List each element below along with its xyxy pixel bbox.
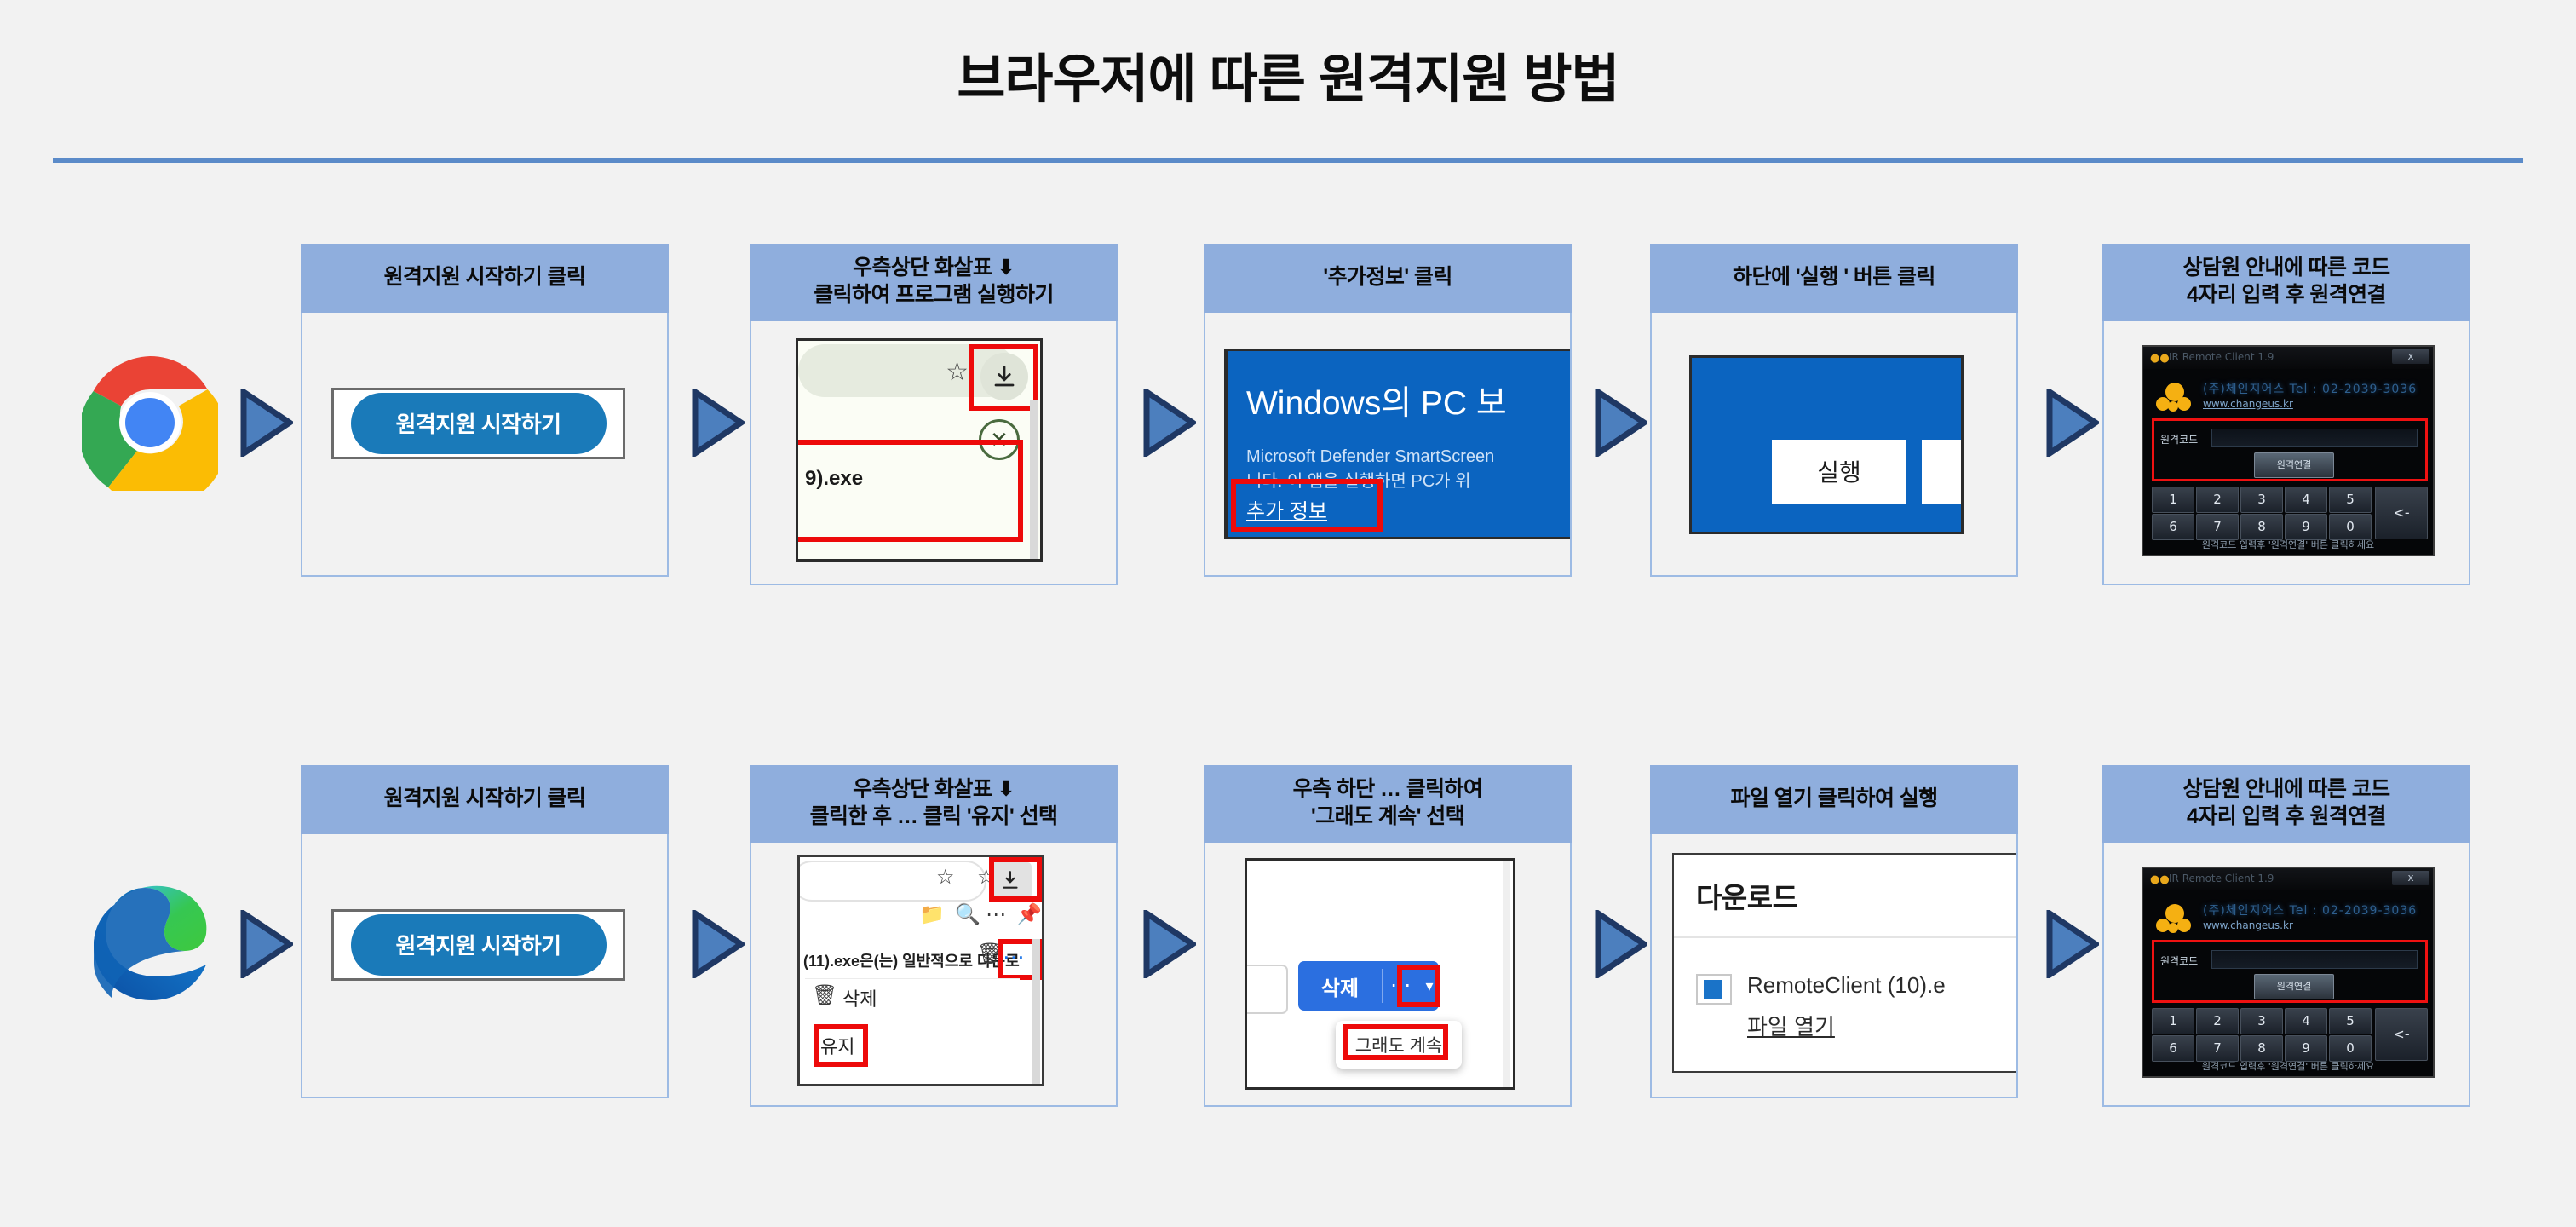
flow-arrow bbox=[240, 389, 293, 457]
download-icon-highlight bbox=[989, 857, 1042, 902]
flow-arrow bbox=[1143, 389, 1196, 457]
step-card: 우측상단 화살표 ⬇ 클릭하여 프로그램 실행하기 ☆ ✕ 9).exe bbox=[750, 244, 1118, 585]
run-dialog-screenshot: 실행 bbox=[1689, 355, 1964, 534]
page-title: 브라우저에 따른 원격지원 방법 bbox=[0, 36, 2576, 112]
flow-arrow bbox=[2046, 910, 2099, 978]
remote-client-footer: 원격코드 입력후 '원격연결' 버튼 클릭하세요 bbox=[2143, 538, 2433, 551]
close-button[interactable]: x bbox=[2392, 349, 2429, 364]
connect-button[interactable]: 원격연결 bbox=[2254, 452, 2334, 478]
keypad-key-8[interactable]: 8 bbox=[2240, 514, 2283, 540]
keypad-key-3[interactable]: 3 bbox=[2240, 487, 2283, 513]
flow-arrow bbox=[1595, 910, 1647, 978]
step-body: 실행 bbox=[1650, 313, 2018, 577]
open-file-link[interactable]: 파일 열기 bbox=[1747, 1010, 1835, 1041]
flow-arrow bbox=[1143, 910, 1196, 978]
keypad-key-2[interactable]: 2 bbox=[2196, 1008, 2239, 1034]
step-card: 파일 열기 클릭하여 실행 다운로드 RemoteClient (10).e 파… bbox=[1650, 765, 2018, 1098]
company-url[interactable]: www.changeus.kr bbox=[2203, 398, 2293, 410]
step-header: '추가정보' 클릭 bbox=[1204, 244, 1572, 313]
start-remote-support-screenshot: 원격지원 시작하기 bbox=[331, 388, 625, 459]
flow-arrow bbox=[692, 910, 745, 978]
keypad-key-6[interactable]: 6 bbox=[2152, 1035, 2194, 1062]
scrollbar[interactable] bbox=[1030, 400, 1038, 562]
changeus-logo-icon bbox=[2155, 902, 2196, 936]
company-info: (주)체인지어스 Tel : 02-2039-3036 bbox=[2203, 902, 2417, 919]
divider bbox=[1674, 936, 2018, 938]
flow-arrow bbox=[1595, 389, 1647, 457]
close-button[interactable]: x bbox=[2392, 871, 2429, 885]
keep-anyway-highlight bbox=[1343, 1024, 1448, 1060]
step-body: 원격지원 시작하기 bbox=[301, 313, 669, 577]
code-input[interactable] bbox=[2211, 950, 2418, 969]
remote-client-window-title: IR Remote Client 1.9 bbox=[2169, 351, 2274, 363]
keypad-key-4[interactable]: 4 bbox=[2285, 1008, 2327, 1034]
step-header: 상담원 안내에 따른 코드 4자리 입력 후 원격연결 bbox=[2102, 765, 2470, 843]
pin-icon[interactable]: 📌 bbox=[1016, 905, 1042, 925]
flow-arrow bbox=[2046, 389, 2099, 457]
step-card: 상담원 안내에 따른 코드 4자리 입력 후 원격연결 ●● IR Remote… bbox=[2102, 244, 2470, 585]
download-icon-highlight bbox=[969, 344, 1038, 411]
start-remote-support-button[interactable]: 원격지원 시작하기 bbox=[351, 393, 607, 454]
omnibox bbox=[797, 861, 986, 902]
more-menu-highlight bbox=[1397, 965, 1440, 1007]
edge-download-flyout-screenshot: ☆ ☆ 📁 🔍 ⋯ 📌 (11).exe은(는) 일반적으로 다운로 🗑 ⋯ 🗑… bbox=[797, 855, 1044, 1086]
keypad-key-4[interactable]: 4 bbox=[2285, 487, 2327, 513]
step-header: 파일 열기 클릭하여 실행 bbox=[1650, 765, 2018, 834]
step-body: Windows의 PC 보 Microsoft Defender SmartSc… bbox=[1204, 313, 1572, 577]
step-body: ●● IR Remote Client 1.9 x (주)체인지어스 Tel :… bbox=[2102, 321, 2470, 585]
star-icon[interactable]: ☆ bbox=[936, 867, 955, 888]
remote-client-screenshot: ●● IR Remote Client 1.9 x (주)체인지어스 Tel :… bbox=[2142, 345, 2435, 556]
adjacent-field bbox=[1245, 965, 1288, 1014]
smartscreen-title: Windows의 PC 보 bbox=[1246, 377, 1507, 424]
keypad-backspace[interactable]: <- bbox=[2375, 487, 2428, 539]
keypad-key-9[interactable]: 9 bbox=[2285, 1035, 2327, 1062]
keypad-key-2[interactable]: 2 bbox=[2196, 487, 2239, 513]
flow-arrow bbox=[692, 389, 745, 457]
step-header: 하단에 '실행 ' 버튼 클릭 bbox=[1650, 244, 2018, 313]
secondary-button[interactable] bbox=[1922, 440, 1964, 504]
remote-client-screenshot: ●● IR Remote Client 1.9 x (주)체인지어스 Tel :… bbox=[2142, 867, 2435, 1078]
edge-logo bbox=[82, 876, 218, 1012]
numeric-keypad: 1 2 3 4 5 6 7 8 9 0 <- bbox=[2152, 487, 2428, 539]
folder-icon[interactable]: 📁 bbox=[919, 905, 945, 925]
step-card: 우측 하단 … 클릭하여 '그래도 계속' 선택 삭제 ⋯ ▾ 그래도 계속 bbox=[1204, 765, 1572, 1107]
step-card: 우측상단 화살표 ⬇ 클릭한 후 … 클릭 '유지' 선택 ☆ ☆ 📁 🔍 ⋯ … bbox=[750, 765, 1118, 1107]
code-label: 원격코드 bbox=[2160, 953, 2198, 968]
step-header: 원격지원 시작하기 클릭 bbox=[301, 765, 669, 834]
keypad-key-1[interactable]: 1 bbox=[2152, 1008, 2194, 1034]
step-body: 삭제 ⋯ ▾ 그래도 계속 bbox=[1204, 843, 1572, 1107]
smartscreen-dialog-screenshot: Windows의 PC 보 Microsoft Defender SmartSc… bbox=[1224, 349, 1572, 539]
downloads-panel-screenshot: 다운로드 RemoteClient (10).e 파일 열기 bbox=[1672, 853, 2018, 1073]
scrollbar[interactable] bbox=[1032, 939, 1040, 1084]
start-remote-support-button[interactable]: 원격지원 시작하기 bbox=[351, 914, 607, 976]
step-card: 원격지원 시작하기 클릭 원격지원 시작하기 bbox=[301, 765, 669, 1098]
step-card: 상담원 안내에 따른 코드 4자리 입력 후 원격연결 ●● IR Remote… bbox=[2102, 765, 2470, 1107]
step-header: 우측상단 화살표 ⬇ 클릭하여 프로그램 실행하기 bbox=[750, 244, 1118, 321]
menu-item-delete[interactable]: 삭제 bbox=[842, 984, 877, 1011]
company-url[interactable]: www.changeus.kr bbox=[2203, 919, 2293, 931]
edge-row: 원격지원 시작하기 클릭 원격지원 시작하기 우측상단 화살표 ⬇ 클릭한 후 … bbox=[0, 734, 2576, 1212]
delete-button-label: 삭제 bbox=[1298, 971, 1382, 1001]
keypad-key-3[interactable]: 3 bbox=[2240, 1008, 2283, 1034]
keypad-key-5[interactable]: 5 bbox=[2329, 1008, 2372, 1034]
more-horizontal-icon[interactable]: ⋯ bbox=[986, 905, 1006, 925]
keypad-key-0[interactable]: 0 bbox=[2329, 1035, 2372, 1062]
file-exe-icon bbox=[1696, 974, 1732, 1005]
flow-arrow bbox=[240, 910, 293, 978]
smartscreen-body-line1: Microsoft Defender SmartScreen bbox=[1246, 447, 1494, 466]
connect-button[interactable]: 원격연결 bbox=[2254, 974, 2334, 999]
code-input[interactable] bbox=[2211, 429, 2418, 447]
app-logo-icon: ●● bbox=[2150, 353, 2170, 364]
remote-client-window-title: IR Remote Client 1.9 bbox=[2169, 873, 2274, 884]
numeric-keypad: 1 2 3 4 5 6 7 8 9 0 <- bbox=[2152, 1008, 2428, 1061]
step-header: 우측 하단 … 클릭하여 '그래도 계속' 선택 bbox=[1204, 765, 1572, 843]
page-header: 브라우저에 따른 원격지원 방법 bbox=[0, 0, 2576, 162]
download-item-highlight bbox=[796, 440, 1023, 542]
step-body: ●● IR Remote Client 1.9 x (주)체인지어스 Tel :… bbox=[2102, 843, 2470, 1107]
keypad-backspace[interactable]: <- bbox=[2375, 1008, 2428, 1061]
keypad-key-0[interactable]: 0 bbox=[2329, 514, 2372, 540]
keypad-key-6[interactable]: 6 bbox=[2152, 514, 2194, 540]
changeus-logo-icon bbox=[2155, 381, 2196, 415]
step-body: ☆ ☆ 📁 🔍 ⋯ 📌 (11).exe은(는) 일반적으로 다운로 🗑 ⋯ 🗑… bbox=[750, 843, 1118, 1107]
step-header: 원격지원 시작하기 클릭 bbox=[301, 244, 669, 313]
app-logo-icon: ●● bbox=[2150, 874, 2170, 885]
step-body: 원격지원 시작하기 bbox=[301, 834, 669, 1098]
keypad-key-7[interactable]: 7 bbox=[2196, 1035, 2239, 1062]
keypad-key-8[interactable]: 8 bbox=[2240, 1035, 2283, 1062]
scrollbar[interactable] bbox=[1503, 861, 1510, 1087]
run-button[interactable]: 실행 bbox=[1772, 440, 1906, 504]
step-header: 상담원 안내에 따른 코드 4자리 입력 후 원격연결 bbox=[2102, 244, 2470, 321]
keypad-key-5[interactable]: 5 bbox=[2329, 487, 2372, 513]
step-card: 하단에 '실행 ' 버튼 클릭 실행 bbox=[1650, 244, 2018, 577]
keypad-key-7[interactable]: 7 bbox=[2196, 514, 2239, 540]
step-card: 원격지원 시작하기 클릭 원격지원 시작하기 bbox=[301, 244, 669, 577]
keypad-key-9[interactable]: 9 bbox=[2285, 514, 2327, 540]
keep-menu-highlight bbox=[814, 1024, 868, 1067]
chrome-download-bar-screenshot: ☆ ✕ 9).exe bbox=[796, 338, 1043, 562]
chrome-logo bbox=[82, 354, 218, 491]
chrome-row: 원격지원 시작하기 클릭 원격지원 시작하기 우측상단 화살표 ⬇ 클릭하여 프… bbox=[0, 213, 2576, 690]
trash-icon: 🗑 bbox=[812, 986, 837, 1006]
start-remote-support-screenshot: 원격지원 시작하기 bbox=[331, 909, 625, 981]
downloads-panel-title: 다운로드 bbox=[1696, 875, 1797, 916]
code-label: 원격코드 bbox=[2160, 432, 2198, 446]
step-body: ☆ ✕ 9).exe bbox=[750, 321, 1118, 585]
keypad-key-1[interactable]: 1 bbox=[2152, 487, 2194, 513]
remote-client-footer: 원격코드 입력후 '원격연결' 버튼 클릭하세요 bbox=[2143, 1059, 2433, 1073]
company-info: (주)체인지어스 Tel : 02-2039-3036 bbox=[2203, 380, 2417, 397]
step-header: 우측상단 화살표 ⬇ 클릭한 후 … 클릭 '유지' 선택 bbox=[750, 765, 1118, 843]
step-body: 다운로드 RemoteClient (10).e 파일 열기 bbox=[1650, 834, 2018, 1098]
title-divider bbox=[53, 158, 2523, 163]
keep-anyway-screenshot: 삭제 ⋯ ▾ 그래도 계속 bbox=[1245, 858, 1515, 1090]
downloaded-file-name: RemoteClient (10).e bbox=[1747, 972, 1946, 999]
search-icon[interactable]: 🔍 bbox=[955, 905, 980, 925]
step-card: '추가정보' 클릭 Windows의 PC 보 Microsoft Defend… bbox=[1204, 244, 1572, 577]
star-icon[interactable]: ☆ bbox=[946, 360, 969, 385]
more-info-highlight bbox=[1231, 479, 1383, 532]
